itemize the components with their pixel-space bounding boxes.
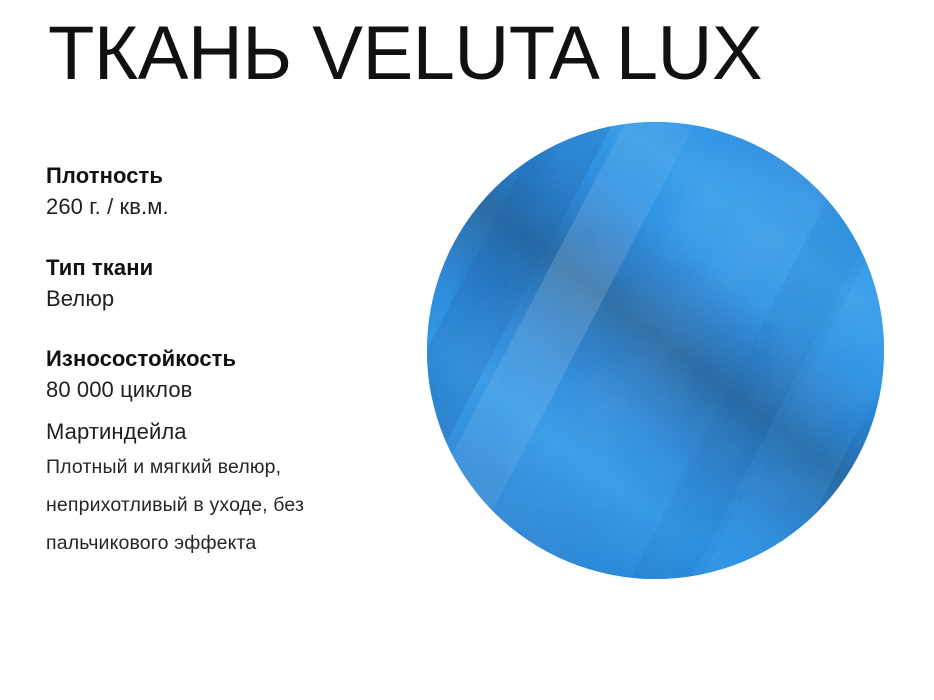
spec-label-fabric-type: Тип ткани xyxy=(46,254,426,282)
page-title: ТКАНЬ VELUTA LUX xyxy=(48,14,762,94)
spec-value-fabric-type: Велюр xyxy=(46,284,426,313)
spec-value-durability-standard: Мартиндейла xyxy=(46,417,426,446)
spec-group-fabric-type: Тип ткани Велюр xyxy=(46,254,426,314)
spec-label-density: Плотность xyxy=(46,162,426,190)
specs-list: Плотность 260 г. / кв.м. Тип ткани Велюр… xyxy=(46,162,426,446)
spec-label-durability: Износостойкость xyxy=(46,345,426,373)
fabric-swatch-image xyxy=(427,122,884,579)
spec-group-density: Плотность 260 г. / кв.м. xyxy=(46,162,426,222)
spec-value-durability-cycles: 80 000 циклов xyxy=(46,375,426,404)
fabric-spec-slide: ТКАНЬ VELUTA LUX Плотность 260 г. / кв.м… xyxy=(0,0,934,700)
fabric-description: Плотный и мягкий велюр, неприхотливый в … xyxy=(46,448,418,562)
spec-value-density: 260 г. / кв.м. xyxy=(46,192,426,221)
fabric-texture-graphic xyxy=(427,122,884,579)
spec-group-durability: Износостойкость 80 000 циклов Мартиндейл… xyxy=(46,345,426,446)
